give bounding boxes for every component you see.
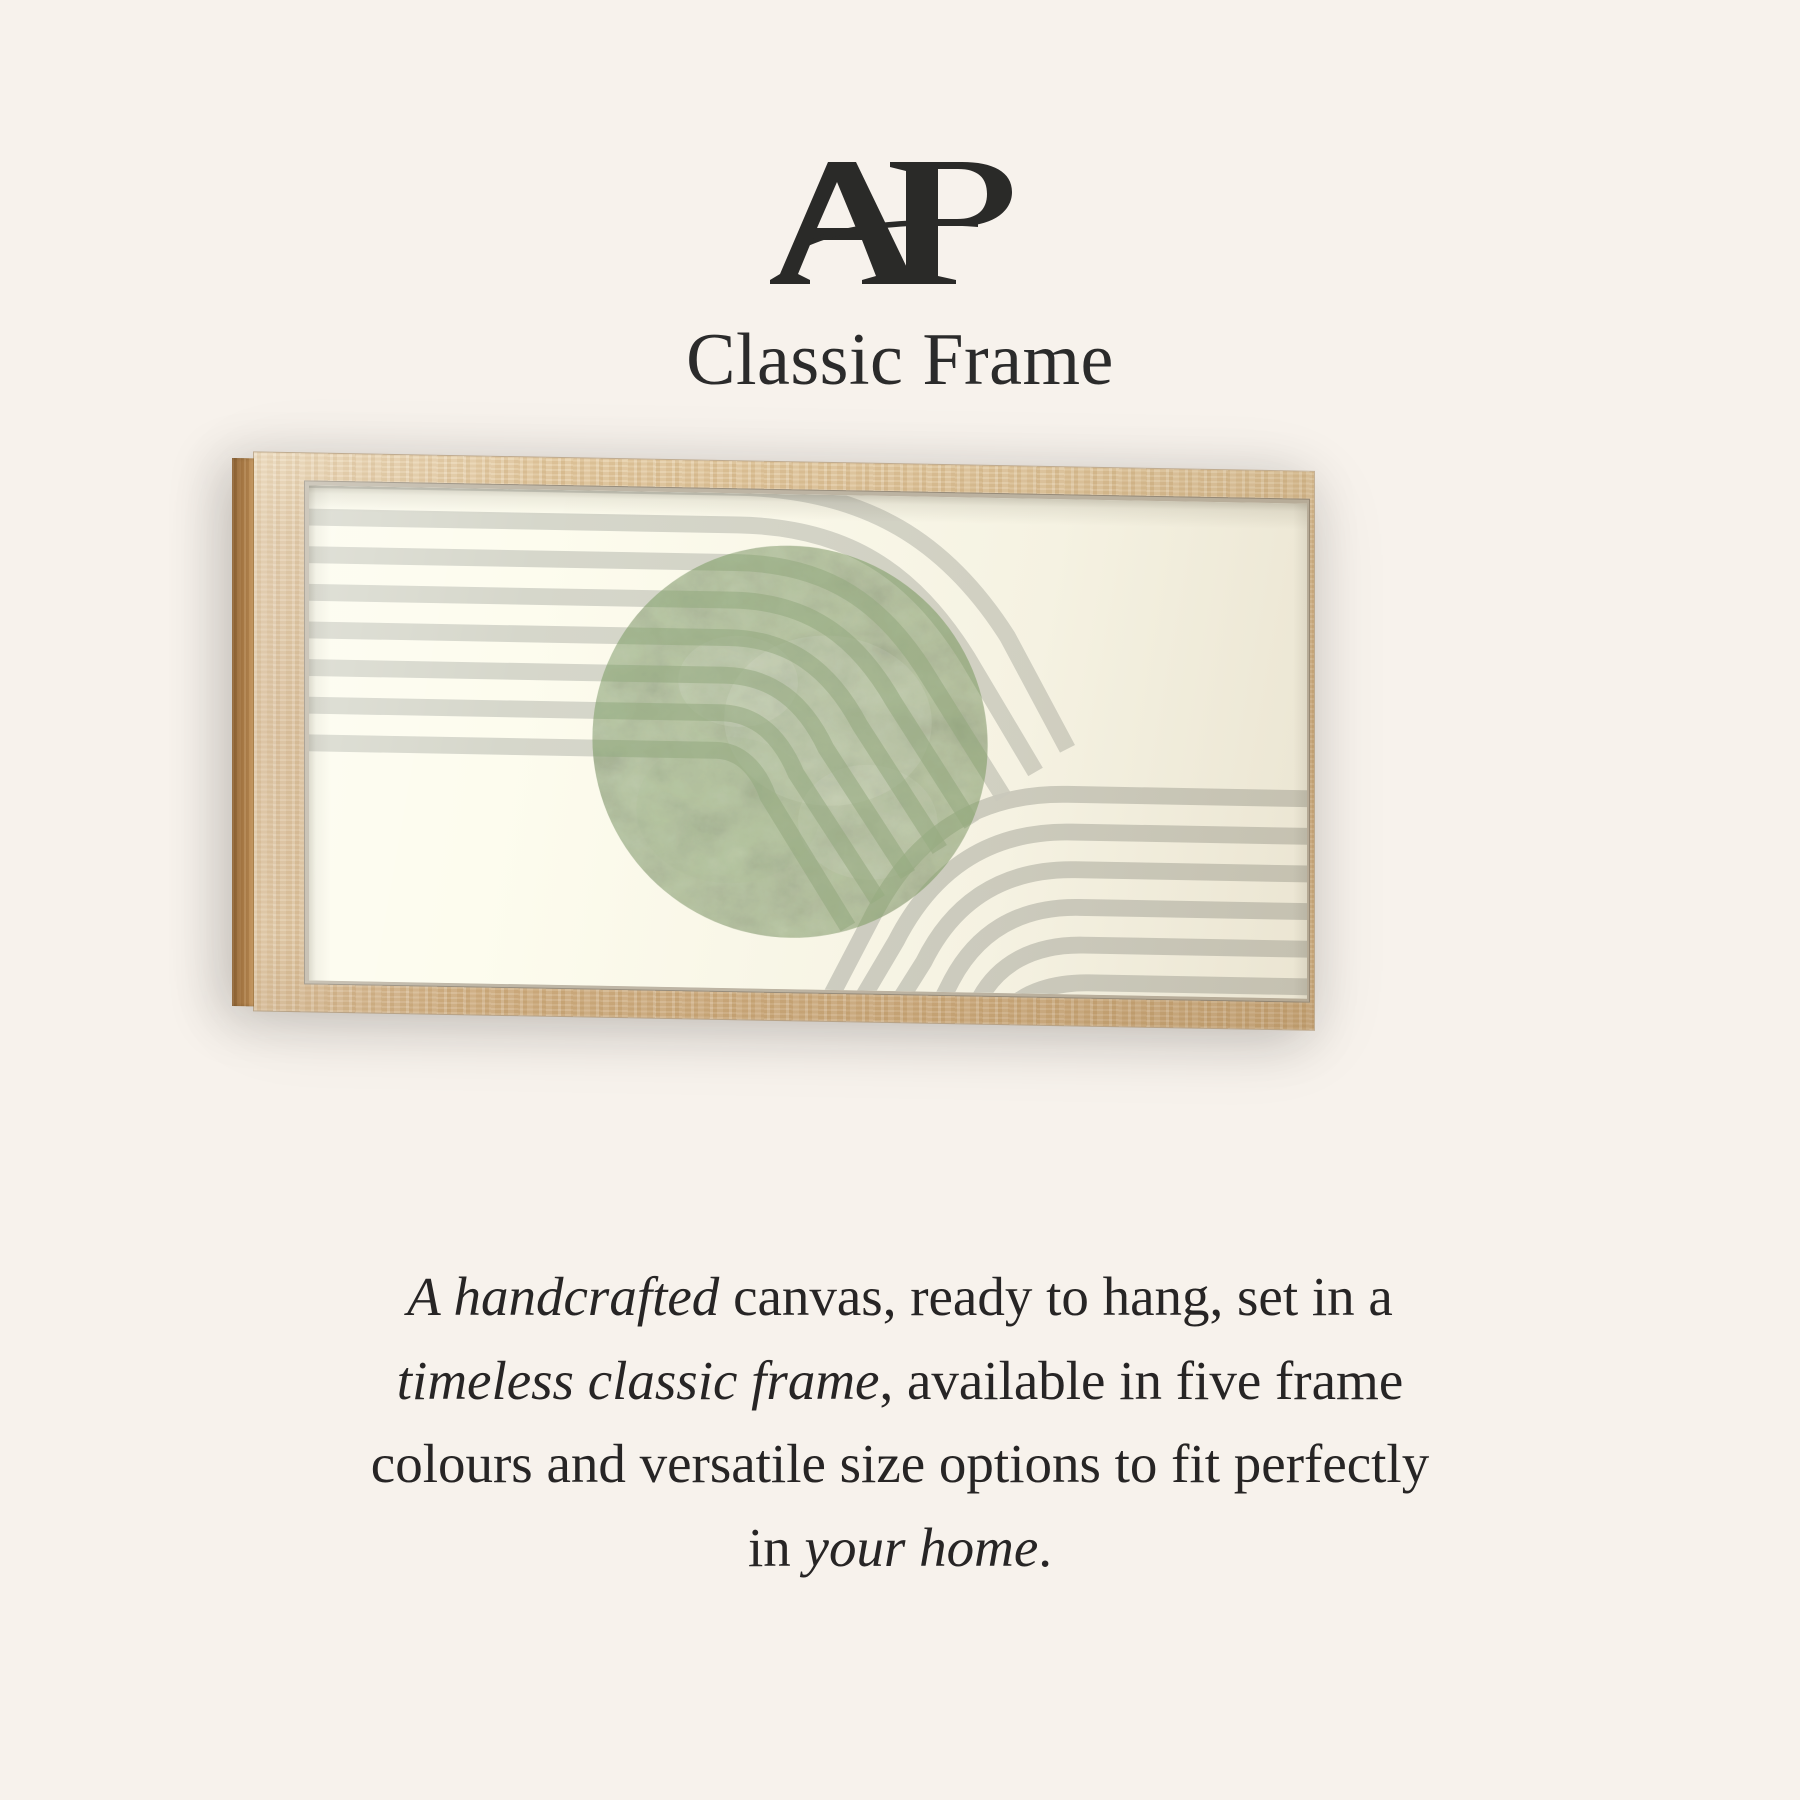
sage-watercolour-circle xyxy=(592,542,987,941)
description-line-4-pre: in xyxy=(748,1517,805,1578)
stripe-overlap-bottom xyxy=(828,790,1307,999)
description-line-4: in your home. xyxy=(270,1506,1530,1590)
product-listing-image: Classic Frame xyxy=(0,0,1800,1800)
ap-monogram-icon xyxy=(770,150,1030,300)
description-line-1: A handcrafted canvas, ready to hang, set… xyxy=(270,1255,1530,1339)
framed-artwork xyxy=(232,452,1320,1012)
description-emphasis-3: your home xyxy=(805,1517,1039,1578)
frame-moulding xyxy=(254,452,1314,1029)
description-line-2: timeless classic frame, available in fiv… xyxy=(270,1339,1530,1423)
frame-mat-bevel xyxy=(304,480,1310,1002)
description-line-1-rest: canvas, ready to hang, set in a xyxy=(719,1266,1393,1327)
ap-monogram-logo xyxy=(0,150,1800,300)
canvas-inner-shadow xyxy=(309,485,1307,998)
canvas-background xyxy=(309,485,1307,998)
description-line-4-post: . xyxy=(1038,1517,1052,1578)
description-line-3: colours and versatile size options to fi… xyxy=(270,1422,1530,1506)
product-description: A handcrafted canvas, ready to hang, set… xyxy=(270,1255,1530,1589)
description-emphasis-1: A handcrafted xyxy=(407,1266,719,1327)
description-line-2-rest: , available in five frame xyxy=(879,1350,1403,1411)
abstract-arches-and-circle-print xyxy=(309,485,1307,998)
bottom-right-arch-stripes xyxy=(828,790,1307,999)
description-emphasis-2: timeless classic frame xyxy=(397,1350,880,1411)
artwork-canvas xyxy=(309,485,1307,998)
stripe-overlap-top xyxy=(309,485,1067,931)
top-left-arch-stripes xyxy=(309,485,1067,931)
page-title: Classic Frame xyxy=(0,318,1800,403)
